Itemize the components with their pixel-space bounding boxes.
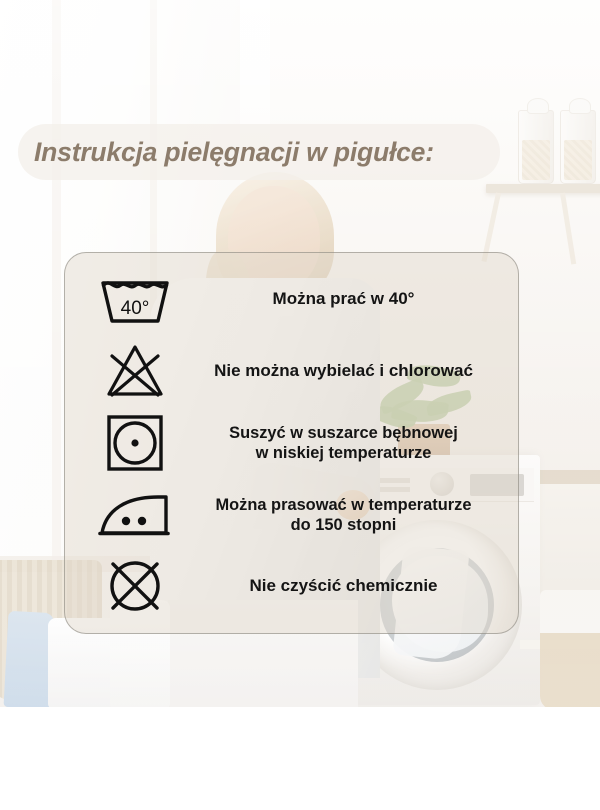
do-not-bleach-triangle-icon	[87, 342, 183, 400]
page-title: Instrukcja pielęgnacji w pigułce:	[18, 137, 434, 168]
care-symbols-panel: 40° Można prać w 40° Nie można w	[64, 252, 519, 634]
care-row-wash: 40° Można prać w 40°	[87, 264, 504, 336]
tumble-dry-low-icon	[87, 413, 183, 473]
title-banner: Instrukcja pielęgnacji w pigułce:	[18, 124, 500, 180]
care-text-line: Nie czyścić chemicznie	[249, 576, 437, 597]
wash-temp-label: 40°	[121, 298, 150, 319]
care-row-bleach-text: Nie można wybielać i chlorować	[183, 361, 504, 382]
care-row-iron-text: Można prasować w temperaturze do 150 sto…	[183, 495, 504, 535]
wash-tub-40-icon: 40°	[87, 274, 183, 326]
care-row-tumble-dry: Suszyć w suszarce bębnowej w niskiej tem…	[87, 407, 504, 479]
care-text-line-2: w niskiej temperaturze	[229, 443, 458, 463]
care-text-line: Można prasować w temperaturze	[216, 495, 472, 515]
care-text-line: Nie można wybielać i chlorować	[214, 361, 473, 382]
care-text-line: Można prać w 40°	[273, 289, 415, 310]
care-text-line-2: do 150 stopni	[216, 515, 472, 535]
care-text-line: Suszyć w suszarce bębnowej	[229, 423, 458, 443]
care-row-tumble-dry-text: Suszyć w suszarce bębnowej w niskiej tem…	[183, 423, 504, 463]
care-row-dry-clean: Nie czyścić chemicznie	[87, 550, 504, 622]
care-row-bleach: Nie można wybielać i chlorować	[87, 336, 504, 408]
care-row-dry-clean-text: Nie czyścić chemicznie	[183, 576, 504, 597]
iron-two-dots-icon	[87, 490, 183, 540]
care-instructions-image: Instrukcja pielęgnacji w pigułce: 40° Mo…	[0, 0, 600, 810]
care-row-iron: Można prasować w temperaturze do 150 sto…	[87, 479, 504, 551]
care-row-wash-text: Można prać w 40°	[183, 289, 504, 310]
do-not-dry-clean-icon	[87, 556, 183, 616]
